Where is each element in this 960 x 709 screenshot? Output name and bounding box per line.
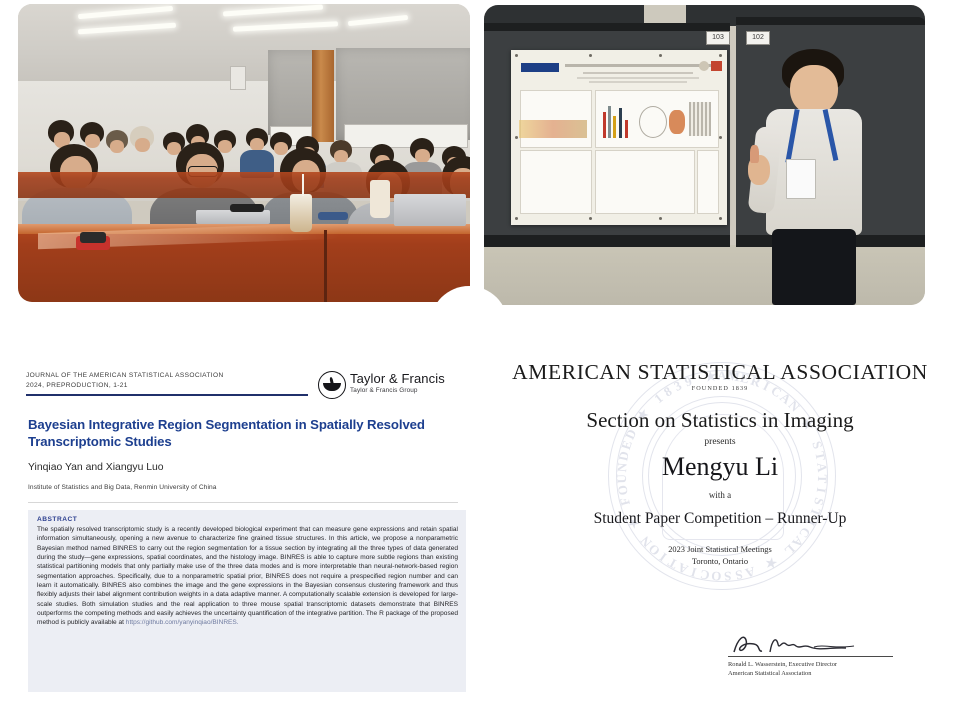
presenter-face (790, 65, 838, 115)
publisher-name: Taylor & Francis (350, 371, 445, 386)
certificate-presents: presents (480, 437, 960, 447)
certificate-recipient: Mengyu Li (480, 452, 960, 482)
abstract-box: ABSTRACT The spatially resolved transcri… (28, 510, 466, 692)
certificate-award: Student Paper Competition – Runner-Up (480, 510, 960, 528)
laptop-icon (196, 210, 270, 224)
poster-column-conclusion (697, 150, 719, 214)
paper-authors: Yinqiao Yan and Xiangyu Luo (28, 462, 164, 473)
photo-seminar-audience (18, 4, 470, 302)
certificate-meeting: 2023 Joint Statistical Meetings Toronto,… (480, 544, 960, 568)
poster-seal-icon (699, 61, 709, 71)
certificate-meeting-location: Toronto, Ontario (480, 556, 960, 568)
drink-cup-icon (370, 180, 390, 218)
phone-icon (230, 204, 264, 212)
abstract-label: ABSTRACT (37, 516, 458, 523)
paper-affiliation: Institute of Statistics and Big Data, Re… (28, 484, 217, 491)
poster-barchart-icon (603, 112, 606, 138)
abstract-repository-link[interactable]: https://github.com/yanyinqiao/BINRES. (126, 619, 239, 626)
paper-title: Bayesian Integrative Region Segmentation… (28, 416, 428, 450)
poster-column-abstract (520, 90, 592, 148)
phone-icon (80, 232, 106, 243)
taylor-francis-lamp-icon (318, 371, 346, 399)
publisher-group: Taylor & Francis Group (350, 387, 418, 394)
poster-board-right-frame (736, 17, 925, 25)
poster-column-results2 (595, 150, 695, 214)
floor (484, 245, 925, 305)
presenter-pants (772, 229, 856, 305)
journal-name: JOURNAL OF THE AMERICAN STATISTICAL ASSO… (26, 371, 266, 381)
laptop-icon (394, 194, 466, 226)
abstract-text: The spatially resolved transcriptomic st… (37, 525, 458, 628)
phone-icon (318, 212, 348, 220)
certificate-with-a: with a (480, 490, 960, 500)
signer-name: Ronald L. Wasserstein, Executive Directo… (728, 660, 948, 669)
certificate-meeting-name: 2023 Joint Statistical Meetings (480, 544, 960, 556)
poster-diagram-icon (639, 106, 667, 138)
poster-image-strip-icon (519, 120, 587, 138)
poster-board-left-base (484, 235, 730, 247)
abstract-body: The spatially resolved transcriptomic st… (37, 526, 458, 626)
board-number-102: 102 (746, 31, 770, 45)
desk-seam (324, 230, 327, 302)
poster-affil-line (577, 77, 699, 79)
poster-affil-line (589, 81, 687, 83)
award-certificate: AMERICAN ★ STATISTICAL ★ ASSOCIATION ★ F… (480, 352, 960, 709)
journal-header: JOURNAL OF THE AMERICAN STATISTICAL ASSO… (26, 371, 266, 390)
presenter-badge (786, 159, 816, 199)
certificate-founded: FOUNDED 1839 (480, 385, 960, 392)
certificate-organization: AMERICAN STATISTICAL ASSOCIATION (480, 360, 960, 385)
poster-title-line (565, 64, 713, 67)
straw-icon (302, 174, 304, 196)
signature-icon (728, 630, 893, 656)
poster-board-left-frame (484, 23, 730, 31)
journal-issue: 2024, PREPRODUCTION, 1-21 (26, 381, 266, 391)
taylor-francis-logo: Taylor & Francis Taylor & Francis Group (318, 369, 468, 403)
paper-first-page: JOURNAL OF THE AMERICAN STATISTICAL ASSO… (0, 352, 480, 709)
poster-author-line (583, 72, 693, 74)
poster-logo (521, 63, 559, 72)
poster-barchart-icon (625, 120, 628, 138)
signer-block: Ronald L. Wasserstein, Executive Directo… (728, 660, 948, 678)
poster-barchart-icon (608, 106, 611, 138)
certificate-section: Section on Statistics in Imaging (480, 408, 960, 433)
poster-column-results1 (520, 150, 592, 214)
presenter-thumb (750, 145, 759, 163)
poster-barchart-icon (613, 116, 616, 138)
photo-poster-presentation: 103 102 (484, 5, 925, 305)
divider (28, 502, 458, 503)
poster-tissue-image-icon (669, 110, 685, 134)
figure-collage: 103 102 (0, 0, 960, 709)
poster-heatmap-icon (689, 102, 711, 136)
signer-organization: American Statistical Association (728, 669, 948, 678)
wall-switch-icon (230, 66, 246, 90)
poster-barchart-icon (619, 108, 622, 138)
academic-poster (511, 50, 727, 225)
poster-emblem-icon (711, 61, 722, 71)
header-rule (26, 394, 308, 396)
board-number-103: 103 (706, 31, 730, 45)
drink-cup-icon (290, 194, 312, 232)
